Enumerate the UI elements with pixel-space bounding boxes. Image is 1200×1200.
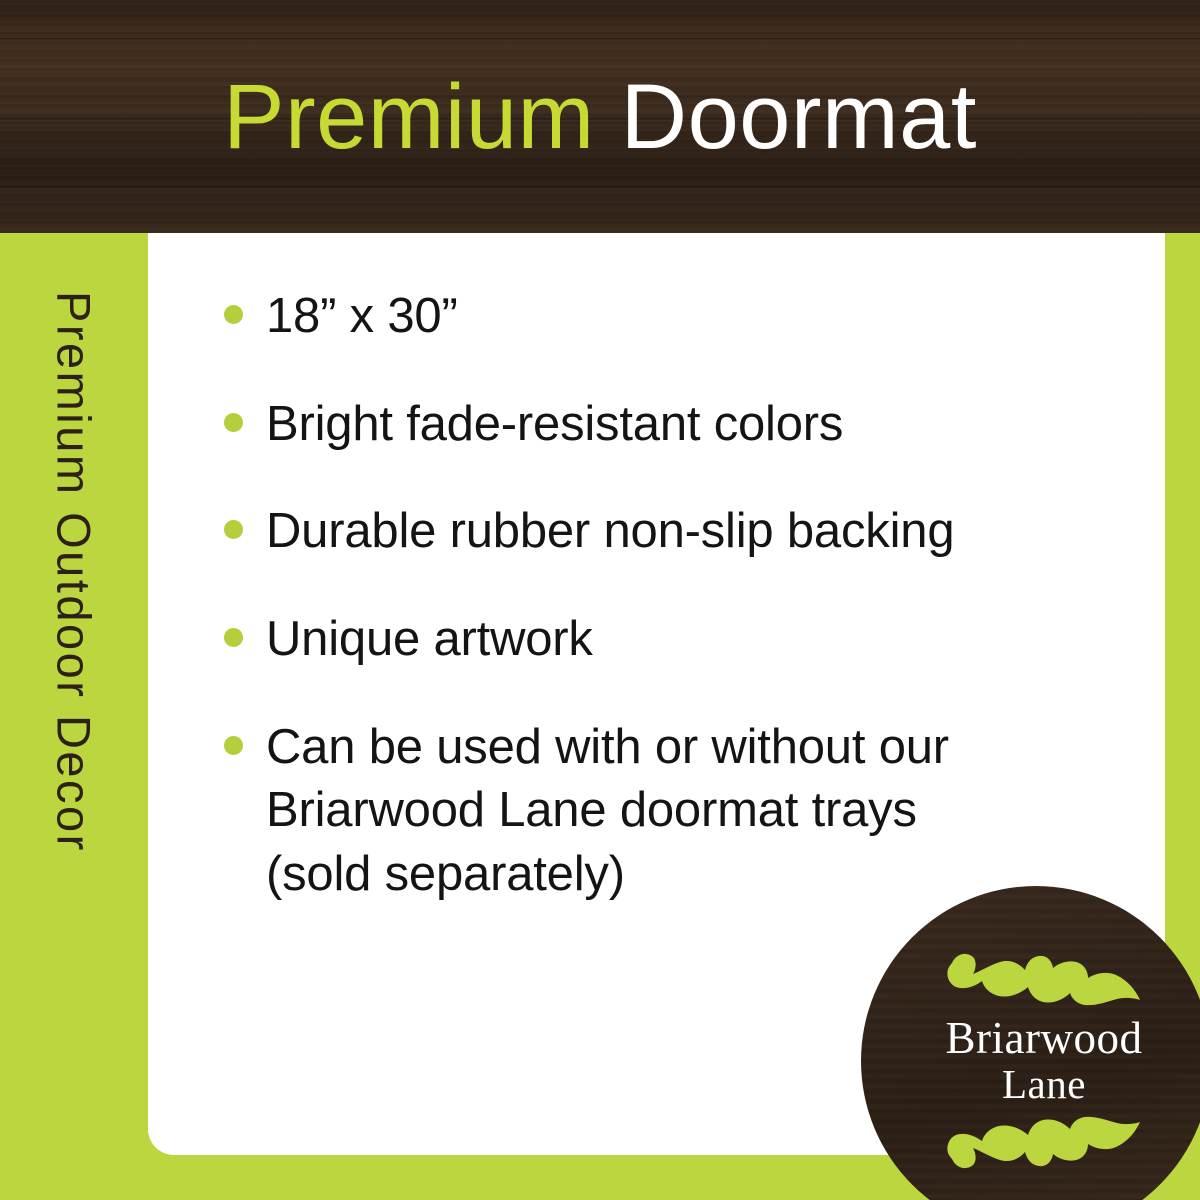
product-infographic: Premium Doormat Premium Outdoor Decor 18… [0,0,1200,1200]
list-item: 18” x 30” [224,285,1124,349]
brand-badge-content: Briarwood Lane [861,886,1200,1200]
bullet-dot-icon [224,628,243,647]
oak-leaf-icon [946,945,1142,1009]
list-item-text: Can be used with or without our Briarwoo… [266,716,949,907]
bullet-dot-icon [224,520,243,539]
list-item-text: 18” x 30” [266,285,458,349]
list-item-text: Durable rubber non-slip backing [266,500,954,564]
list-item-text: Unique artwork [266,608,593,672]
brand-name-line2: Lane [946,1062,1143,1108]
feature-list: 18” x 30” Bright fade-resistant colors D… [224,285,1124,907]
list-item: Bright fade-resistant colors [224,393,1124,457]
list-item: Durable rubber non-slip backing [224,500,1124,564]
title-accent-word: Premium [223,71,595,163]
list-item-text: Bright fade-resistant colors [266,393,843,457]
brand-badge: Briarwood Lane [861,886,1200,1200]
page-title: Premium Doormat [0,0,1200,233]
list-item: Unique artwork [224,608,1124,672]
header-banner: Premium Doormat [0,0,1200,233]
sidebar-vertical-label: Premium Outdoor Decor [51,291,98,853]
oak-leaf-icon [946,1113,1142,1177]
bullet-dot-icon [224,413,243,432]
sidebar-label-wrap: Premium Outdoor Decor [0,233,148,1200]
bullet-dot-icon [224,305,243,324]
list-item: Can be used with or without our Briarwoo… [224,716,1124,907]
brand-name-line1: Briarwood [946,1016,1143,1062]
brand-wordmark: Briarwood Lane [946,1016,1143,1108]
sidebar-rail: Premium Outdoor Decor [0,233,148,1200]
title-plain-word: Doormat [621,71,977,163]
bullet-dot-icon [224,736,243,755]
